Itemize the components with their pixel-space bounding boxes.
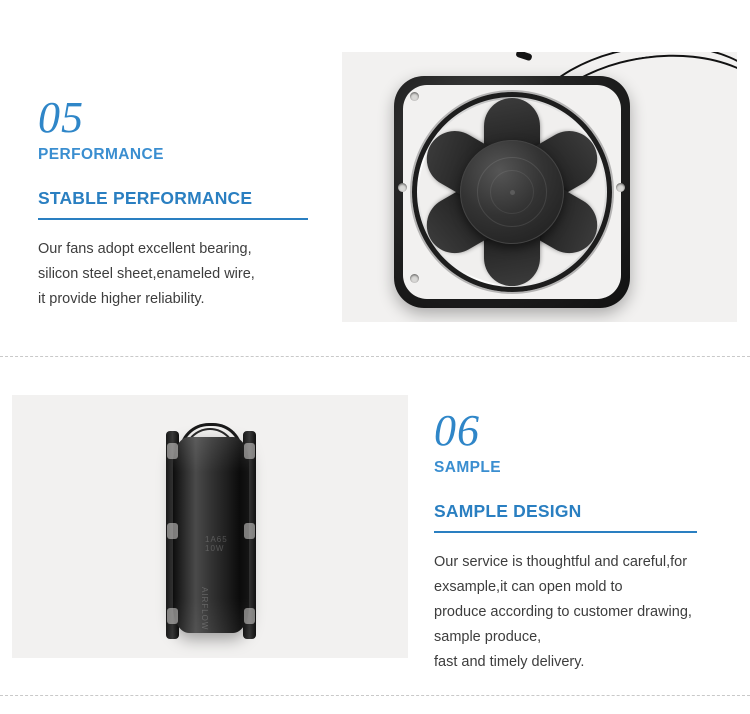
embossed-brand: AIRFLOW [200,587,209,630]
section-number: 05 [38,96,318,140]
section-number: 06 [434,409,734,453]
frame-notch [244,443,255,459]
headline-underline [434,531,697,533]
section-headline: SAMPLE DESIGN [434,501,734,522]
section-kicker: PERFORMANCE [38,146,318,164]
mounting-hole [410,274,419,283]
fan-blades [418,98,606,286]
hub-center-dot [510,190,515,195]
section-body-text: Our service is thoughtful and careful,fo… [434,550,734,675]
section-kicker: SAMPLE [434,459,734,477]
section-divider-1 [0,356,750,357]
fan-hub [460,140,564,244]
section-sample: 06 SAMPLE SAMPLE DESIGN Our service is t… [434,409,734,675]
frame-notch [167,523,178,539]
frame-notch [244,608,255,624]
frame-notch [167,443,178,459]
section-headline: STABLE PERFORMANCE [38,188,318,209]
section-divider-2 [0,695,750,696]
frame-notch [167,608,178,624]
product-image-panel-side: 1A65 10W AIRFLOW [12,395,408,658]
frame-notch [244,523,255,539]
headline-underline [38,218,308,220]
embossed-code: 1A65 10W [205,535,249,553]
wire-grommet [515,52,532,61]
fan-front-illustration [394,70,644,315]
mounting-hole [410,92,419,101]
fan-side-illustration: 1A65 10W AIRFLOW [155,423,275,638]
mounting-hole [616,183,625,192]
product-image-panel-front [342,52,737,322]
photo-stage [342,52,737,322]
photo-stage: 1A65 10W AIRFLOW [12,395,408,658]
fan-housing-body: 1A65 10W AIRFLOW [173,437,249,633]
mounting-hole [398,183,407,192]
section-performance: 05 PERFORMANCE STABLE PERFORMANCE Our fa… [38,96,318,312]
section-body-text: Our fans adopt excellent bearing, silico… [38,237,318,312]
product-detail-page: 05 PERFORMANCE STABLE PERFORMANCE Our fa… [0,0,750,714]
